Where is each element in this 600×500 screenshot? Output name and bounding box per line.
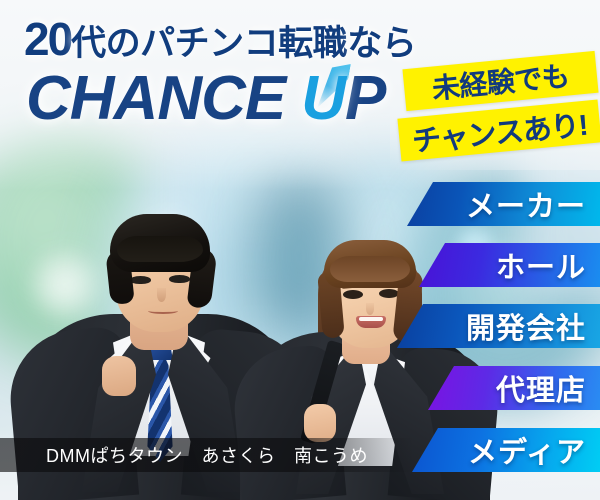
logo-word-chance: CHANCE (26, 64, 285, 133)
logo-letter-p: P (345, 64, 385, 133)
headline-number: 20 (24, 13, 71, 65)
woman-teeth (359, 317, 383, 321)
woman-hair-fringe (330, 256, 410, 282)
category-tag-development-company[interactable]: 開発会社 (397, 304, 600, 348)
man-eye-right (169, 275, 190, 283)
category-tag-maker[interactable]: メーカー (407, 182, 600, 226)
man-mouth (148, 308, 178, 314)
credit-text: DMMぱちタウン あさくら 南こうめ (46, 442, 368, 468)
category-tag-hall[interactable]: ホール (419, 243, 600, 287)
logo-u-wrap: U (301, 68, 345, 130)
category-tag-agency[interactable]: 代理店 (428, 366, 600, 410)
category-tag-media[interactable]: メディア (412, 428, 600, 472)
recruitment-banner: 20代のパチンコ転職なら CHANCEUP 未経験でも チャンスあり! メーカー… (0, 0, 600, 500)
man-hair-fringe (117, 236, 203, 262)
category-tag-label-development-company: 開発会社 (466, 305, 586, 347)
man-eye-left (130, 276, 151, 284)
man-hand (102, 356, 136, 396)
logo-letter-u: U (301, 64, 345, 133)
logo-chance-up: CHANCEUP (26, 68, 385, 130)
category-tag-label-maker: メーカー (466, 183, 586, 225)
category-tag-label-hall: ホール (496, 244, 586, 286)
woman-nose (366, 303, 374, 315)
headline: 20代のパチンコ転職なら (24, 16, 416, 62)
credit-bar: DMMぱちタウン あさくら 南こうめ (0, 438, 414, 472)
category-tag-label-media: メディア (468, 429, 586, 471)
headline-middle: 代のパチンコ転職 (71, 24, 347, 63)
headline-tail: なら (347, 24, 416, 63)
woman-hand (304, 404, 336, 442)
woman-eye-left (343, 290, 363, 299)
man-nose (157, 288, 166, 302)
category-tag-label-agency: 代理店 (496, 367, 586, 409)
